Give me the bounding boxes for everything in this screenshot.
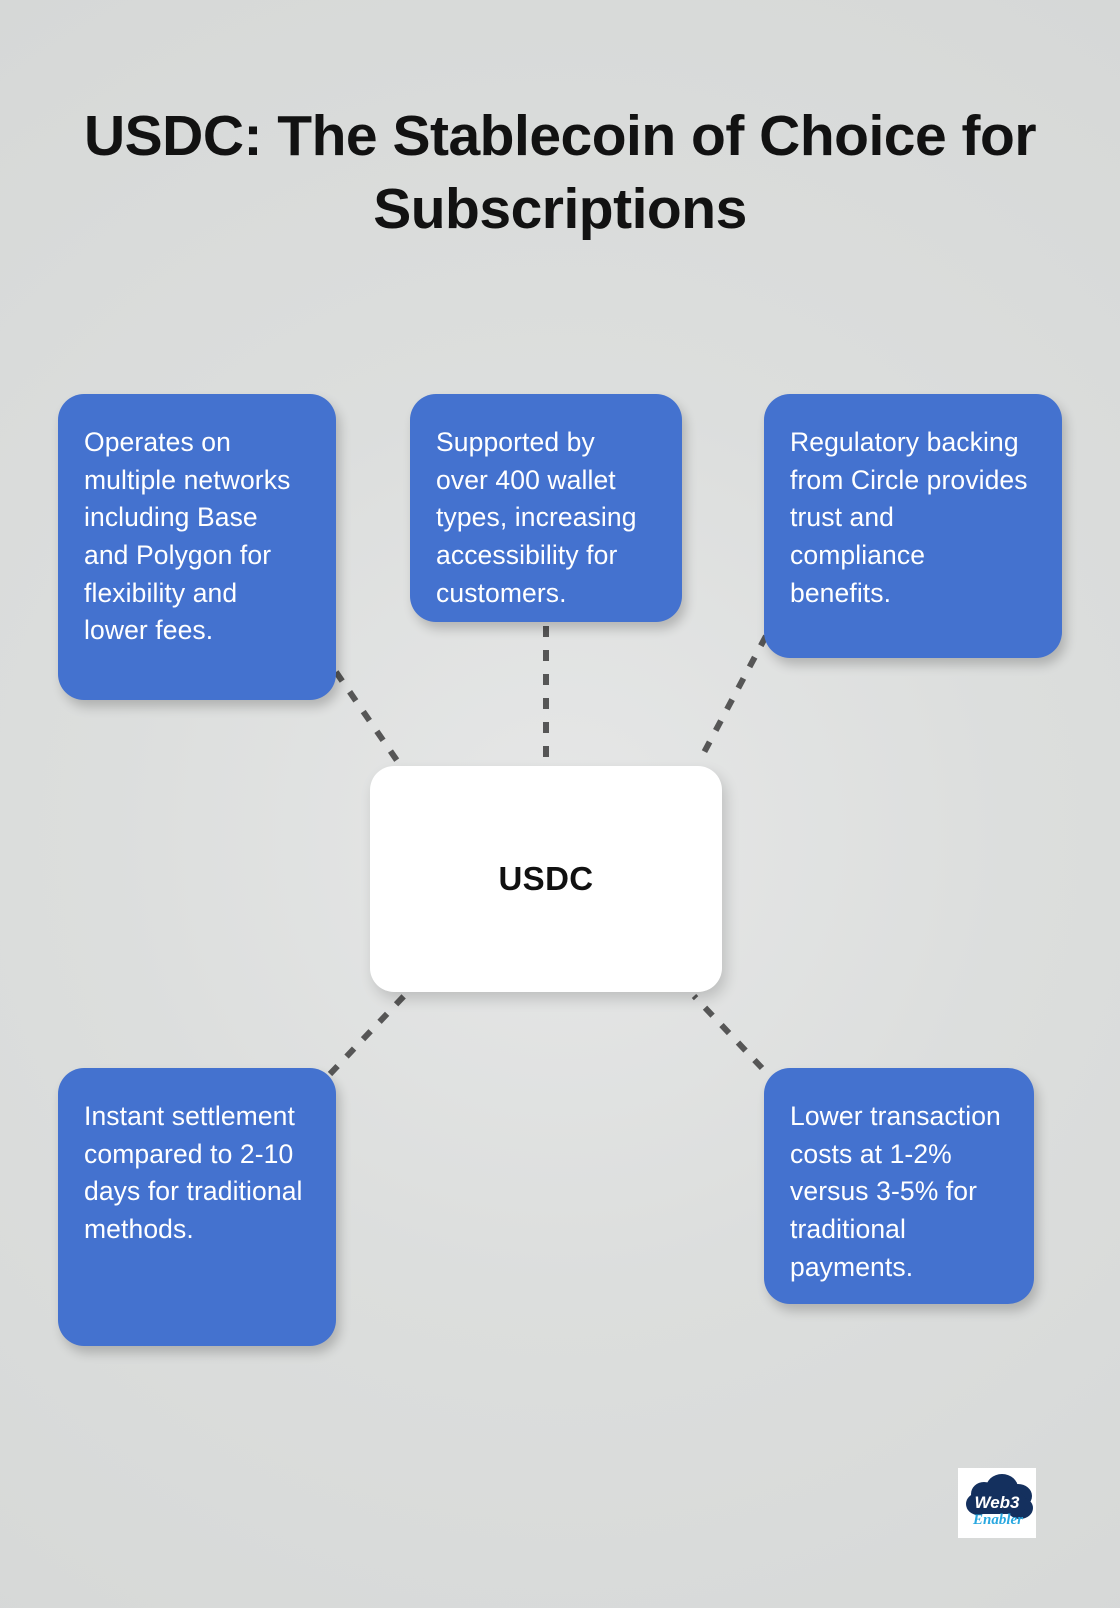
node-card-regulatory[interactable]: Regulatory backing from Circle provides … bbox=[764, 394, 1062, 658]
node-card-costs[interactable]: Lower transaction costs at 1-2% versus 3… bbox=[764, 1068, 1034, 1304]
page-title: USDC: The Stablecoin of Choice for Subsc… bbox=[60, 100, 1060, 246]
node-card-settlement-text: Instant settlement compared to 2-10 days… bbox=[84, 1098, 306, 1249]
node-card-settlement[interactable]: Instant settlement compared to 2-10 days… bbox=[58, 1068, 336, 1346]
node-card-regulatory-text: Regulatory backing from Circle provides … bbox=[790, 424, 1032, 612]
svg-text:Enabler: Enabler bbox=[972, 1512, 1023, 1528]
node-card-networks[interactable]: Operates on multiple networks including … bbox=[58, 394, 336, 700]
cloud-logo-icon: Web3 Enabler bbox=[958, 1468, 1036, 1538]
node-card-wallets[interactable]: Supported by over 400 wallet types, incr… bbox=[410, 394, 682, 622]
svg-text:Web3: Web3 bbox=[974, 1493, 1020, 1512]
web3-enabler-logo: Web3 Enabler bbox=[958, 1468, 1036, 1538]
connector-networks bbox=[336, 672, 398, 762]
connector-regulatory bbox=[700, 636, 766, 760]
center-node-usdc[interactable]: USDC bbox=[370, 766, 722, 992]
connector-settlement bbox=[330, 996, 404, 1074]
connector-costs bbox=[694, 996, 762, 1068]
infographic-canvas: USDC: The Stablecoin of Choice for Subsc… bbox=[0, 0, 1120, 1608]
node-card-costs-text: Lower transaction costs at 1-2% versus 3… bbox=[790, 1098, 1004, 1286]
center-node-label: USDC bbox=[498, 860, 593, 898]
node-card-wallets-text: Supported by over 400 wallet types, incr… bbox=[436, 424, 652, 612]
node-card-networks-text: Operates on multiple networks including … bbox=[84, 424, 306, 650]
